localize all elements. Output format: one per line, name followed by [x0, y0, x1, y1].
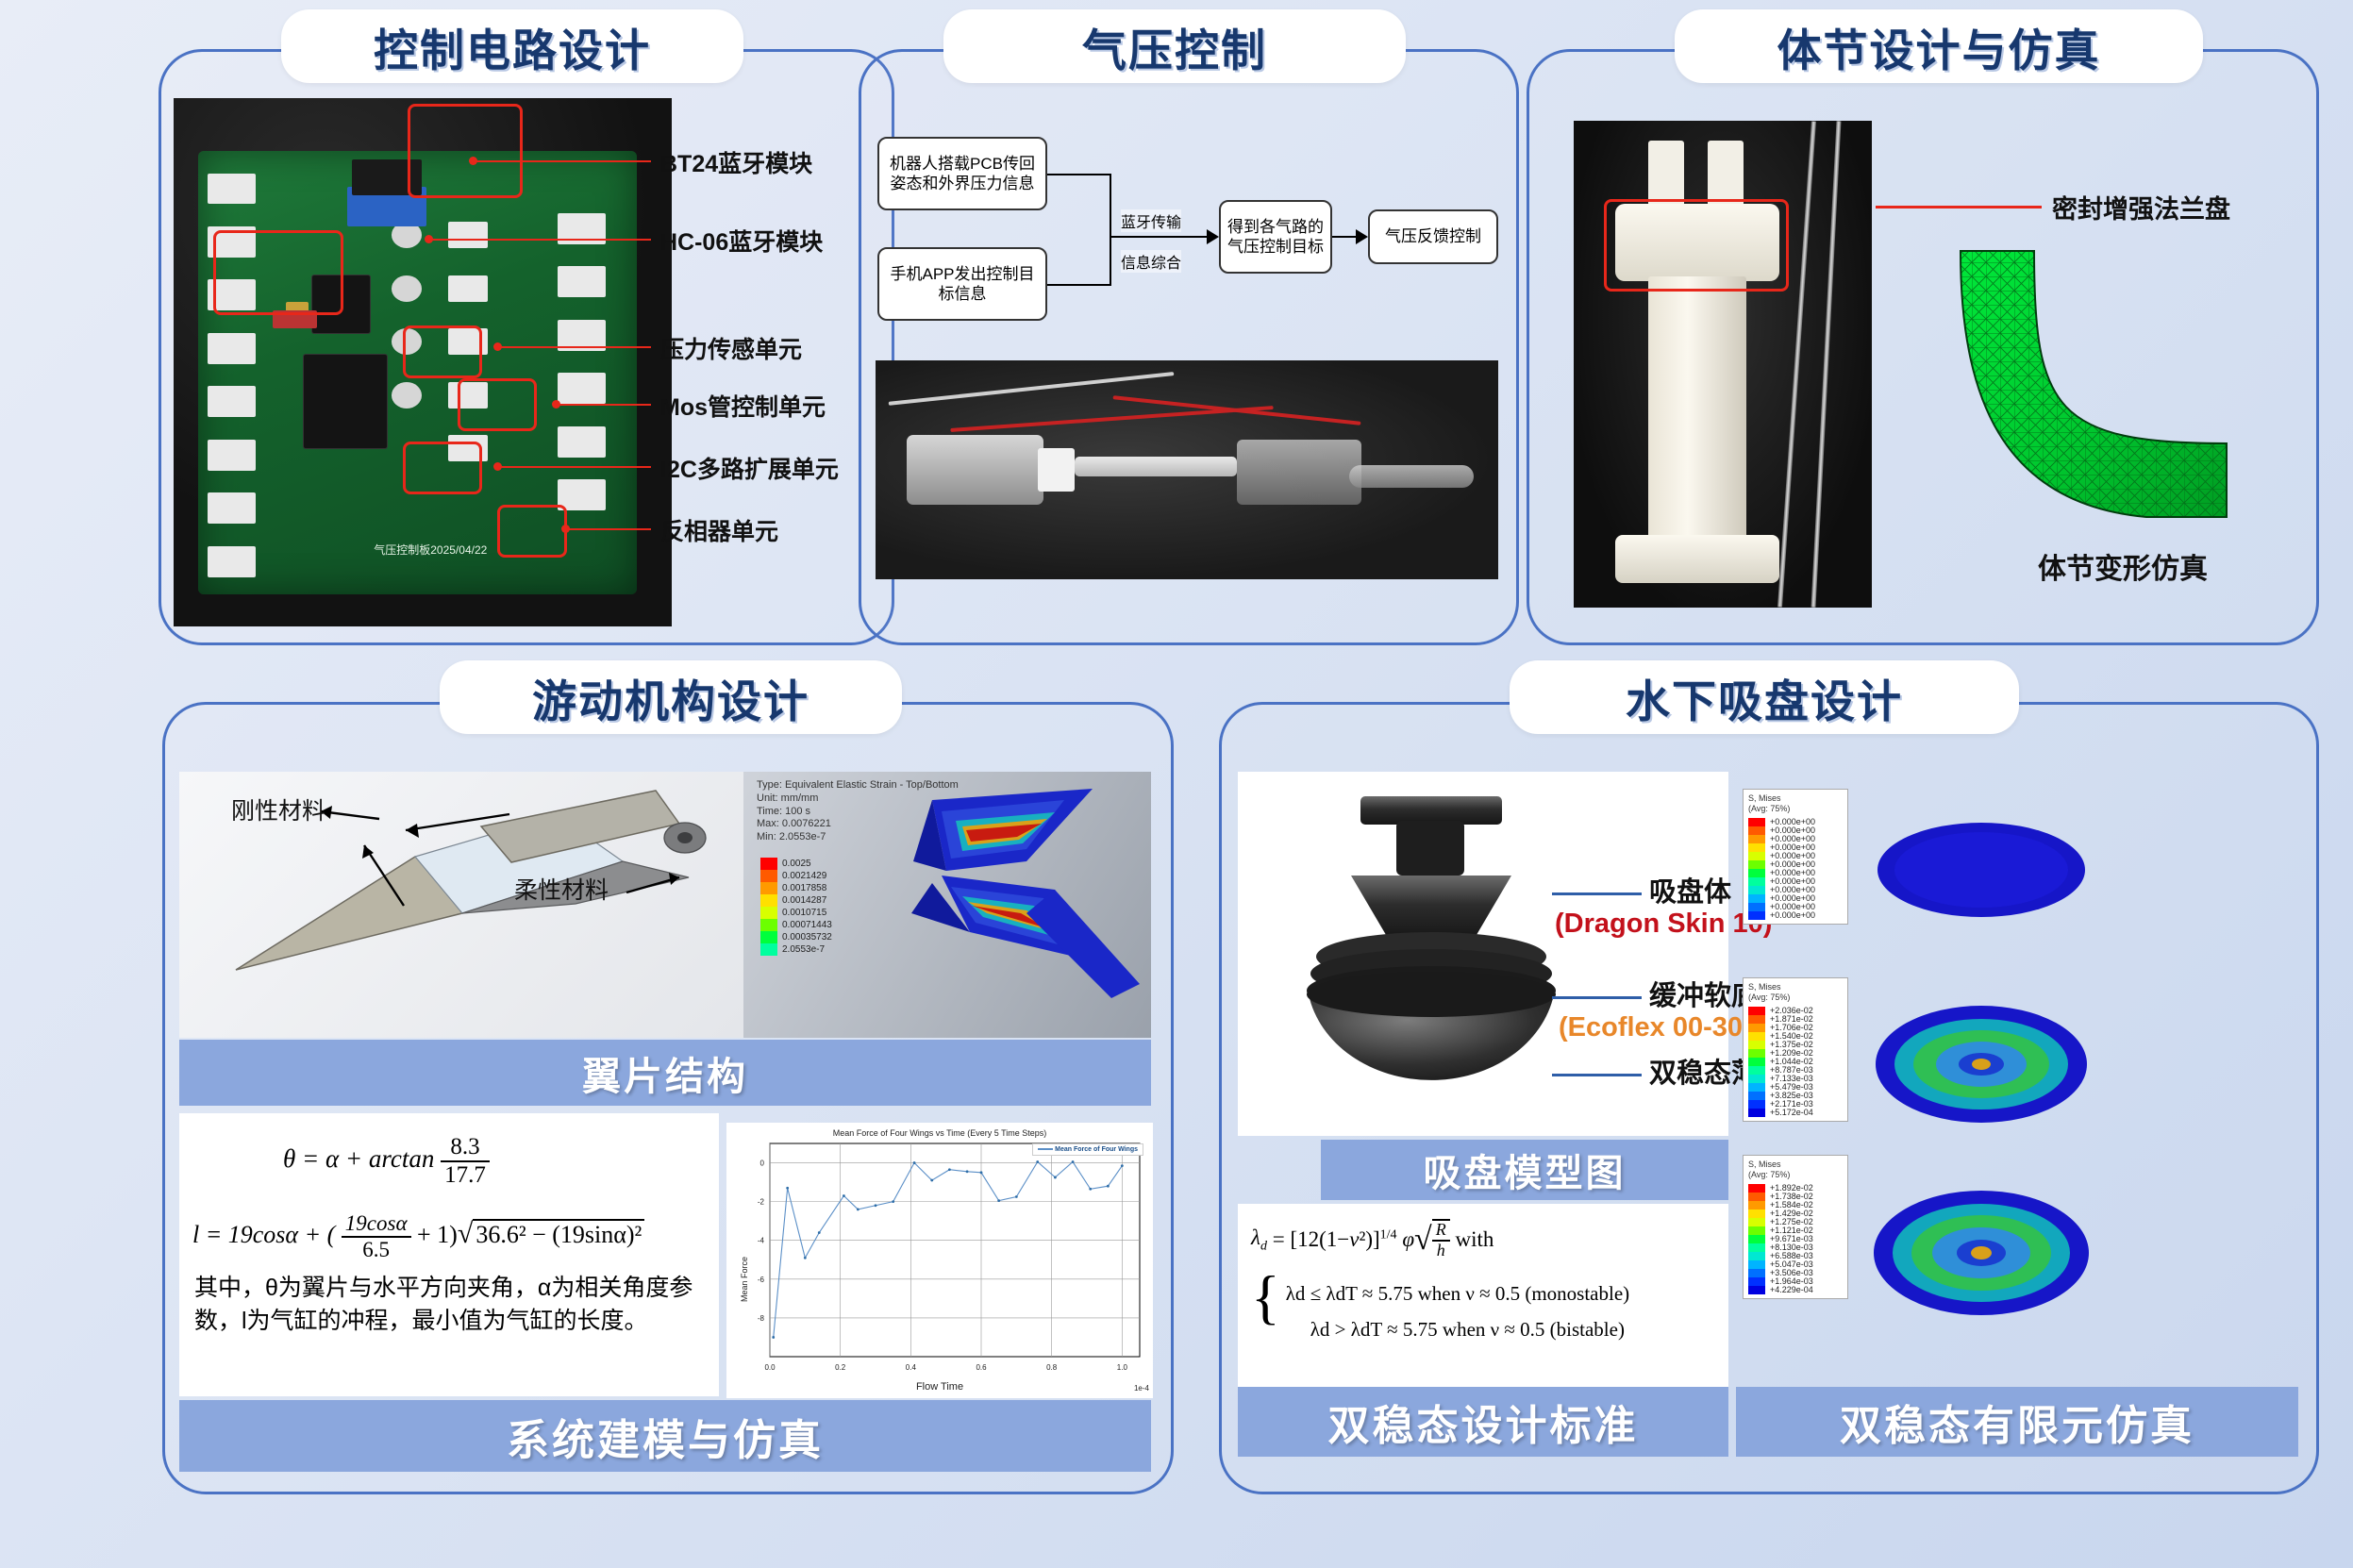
equation-l-mid: + 1): [417, 1221, 458, 1248]
wing-fea-image: Type: Equivalent Elastic Strain - Top/Bo…: [743, 772, 1151, 1038]
chart-xtick: 0.2: [835, 1363, 846, 1372]
fea-strain-legend: 0.00250.00214290.00178580.00142870.00107…: [760, 858, 832, 956]
chart-xtick: 0.4: [906, 1363, 917, 1372]
legend-swatch: [760, 870, 777, 882]
chart-point: [818, 1231, 821, 1234]
panel-swimming-mechanism-title-text: 游动机构设计: [532, 665, 809, 730]
callout-i2c: I2C多路扩展单元: [660, 451, 839, 485]
equation-theta-den: 17.7: [441, 1162, 490, 1189]
legend-value: 0.0017858: [782, 882, 832, 894]
callout-flange: 密封增强法兰盘: [2052, 189, 2230, 225]
fea-min: Min: 2.0553e-7: [757, 831, 959, 844]
equation-l-sqrt: 36.6² − (19sinα)²: [473, 1219, 644, 1248]
fem-result-3: [1870, 1187, 2093, 1319]
legend-swatch: [760, 919, 777, 931]
bistable-case-bistable: λd > λdT ≈ 5.75 when ν ≈ 0.5 (bistable): [1286, 1311, 1629, 1348]
chart-point: [843, 1194, 845, 1197]
highlight-inverter: [497, 505, 567, 558]
fem-legend-1: S, Mises (Avg: 75%) +0.000e+00+0.000e+00…: [1743, 789, 1848, 925]
fea-strain-header: Type: Equivalent Elastic Strain - Top/Bo…: [757, 779, 959, 844]
legend-swatch: [1748, 894, 1765, 903]
legend-swatch: [1748, 911, 1765, 920]
callout-pressure-sensor: 压力传感单元: [660, 331, 802, 365]
legend-swatch: [760, 894, 777, 907]
legend-swatch: [760, 882, 777, 894]
flow-edge-fusion: 信息综合: [1121, 250, 1181, 273]
legend-swatch: [1748, 1252, 1765, 1260]
legend-swatch: [1748, 1049, 1765, 1058]
chart-legend-entry: Mean Force of Four Wings: [1055, 1146, 1138, 1153]
legend-swatch: [1748, 1109, 1765, 1117]
chart-point: [913, 1161, 916, 1164]
chart-point: [786, 1187, 789, 1190]
legend-swatch: [1748, 1184, 1765, 1193]
label-rigid-material: 刚性材料: [231, 792, 325, 826]
fea-type: Type: Equivalent Elastic Strain - Top/Bo…: [757, 779, 959, 792]
legend-swatch: [1748, 860, 1765, 869]
legend-swatch: [760, 858, 777, 870]
highlight-hc06: [213, 230, 342, 315]
highlight-flange: [1604, 199, 1789, 292]
chart-point: [1054, 1176, 1057, 1179]
caption-sucker-model-text: 吸盘模型图: [1424, 1143, 1627, 1197]
chart-point: [892, 1200, 894, 1203]
panel-underwater-sucker-title: 水下吸盘设计: [1510, 660, 2019, 734]
legend-value: +5.172e-04: [1770, 1109, 1813, 1117]
segment-deformation-mesh: [1944, 234, 2255, 545]
legend-swatch: [1748, 1024, 1765, 1032]
chart-point: [948, 1168, 951, 1171]
highlight-i2c: [403, 442, 482, 494]
legend-swatch: [1748, 869, 1765, 877]
chart-point: [1015, 1195, 1018, 1198]
legend-value: 0.00071443: [782, 919, 832, 931]
flow-node-robot-pcb: 机器人搭载PCB传回姿态和外界压力信息: [877, 137, 1047, 210]
chart-x-exponent: 1e-4: [1134, 1384, 1149, 1393]
equation-theta-lhs: θ = α + arctan: [283, 1144, 434, 1173]
chart-xtick: 0.8: [1046, 1363, 1058, 1372]
legend-swatch: [1748, 1092, 1765, 1100]
flow-node-feedback: 气压反馈控制: [1368, 209, 1498, 264]
chart-title: Mean Force of Four Wings vs Time (Every …: [726, 1128, 1153, 1138]
legend-swatch: [1748, 1075, 1765, 1083]
panel-segment-design-title-text: 体节设计与仿真: [1777, 14, 2101, 79]
chart-ytick: -4: [758, 1237, 765, 1245]
segment-deformation-caption: 体节变形仿真: [1981, 545, 2264, 587]
legend-swatch: [1748, 1277, 1765, 1286]
fem-legend-3: S, Mises (Avg: 75%) +1.892e-02+1.738e-02…: [1743, 1155, 1848, 1299]
legend-swatch: [1748, 1226, 1765, 1235]
legend-swatch: [1748, 1193, 1765, 1201]
fem-legend-3-title: S, Mises: [1748, 1159, 1843, 1170]
equation-theta-num: 8.3: [441, 1134, 490, 1162]
chart-point: [857, 1208, 859, 1210]
chart-xtick: 0.6: [976, 1363, 987, 1372]
callout-sucker-soft-base-material: (Ecoflex 00-30): [1559, 1012, 1752, 1043]
legend-swatch: [1748, 843, 1765, 852]
chart-point: [1072, 1160, 1075, 1163]
caption-wing-structure: 翼片结构: [179, 1040, 1151, 1106]
chart-point: [997, 1199, 1000, 1202]
panel-swimming-mechanism-title: 游动机构设计: [440, 660, 902, 734]
legend-swatch: [1748, 1058, 1765, 1066]
wing-cad-image: 刚性材料 柔性材料: [179, 772, 743, 1038]
panel-segment-design-title: 体节设计与仿真: [1675, 9, 2203, 83]
legend-swatch: [1748, 1032, 1765, 1041]
legend-swatch: [1748, 1007, 1765, 1015]
legend-swatch: [1748, 1083, 1765, 1092]
chart-ylabel: Mean Force: [740, 1257, 749, 1302]
chart-point: [1107, 1185, 1110, 1188]
legend-swatch: [1748, 1209, 1765, 1218]
fea-unit: Unit: mm/mm: [757, 792, 959, 806]
legend-value: 0.00035732: [782, 931, 832, 943]
callout-mos: Mos管控制单元: [660, 389, 826, 423]
panel-control-circuit-title: 控制电路设计: [281, 9, 743, 83]
panel-underwater-sucker-title-text: 水下吸盘设计: [1626, 665, 1903, 730]
flow-edge-bluetooth: 蓝牙传输: [1121, 209, 1181, 232]
legend-value: 0.0010715: [782, 907, 832, 919]
equation-l-den: 6.5: [342, 1238, 411, 1262]
fem-legend-3-avg: (Avg: 75%): [1748, 1170, 1843, 1180]
callout-sucker-body: 吸盘体: [1649, 870, 1731, 909]
legend-value: 0.0025: [782, 858, 832, 870]
chart-point: [1089, 1188, 1092, 1191]
pcb-silk-text: 气压控制板2025/04/22: [374, 542, 487, 558]
callout-sucker-body-material: (Dragon Skin 10): [1555, 909, 1772, 940]
legend-swatch: [1748, 1100, 1765, 1109]
legend-swatch: [1748, 826, 1765, 835]
caption-system-modeling: 系统建模与仿真: [179, 1400, 1151, 1472]
equation-l-num: 19cosα: [342, 1211, 411, 1238]
legend-swatch: [1748, 903, 1765, 911]
legend-swatch: [1748, 852, 1765, 860]
equation-l-lhs: l = 19cosα + (: [192, 1221, 335, 1248]
legend-swatch: [1748, 1041, 1765, 1049]
legend-swatch: [1748, 1235, 1765, 1243]
bistable-equation: λd = [12(1−ν²)]1/4 φ √ R h with { λd ≤ λ…: [1238, 1204, 1728, 1391]
legend-swatch: [1748, 1015, 1765, 1024]
callout-bt24: BT24蓝牙模块: [660, 145, 812, 179]
highlight-bt24: [408, 104, 522, 199]
flow-node-target: 得到各气路的气压控制目标: [1219, 200, 1332, 274]
fem-result-2: [1870, 1002, 2093, 1126]
legend-swatch: [760, 931, 777, 943]
wing-equations: θ = α + arctan 8.3 17.7 l = 19cosα + ( 1…: [179, 1113, 719, 1396]
chart-point: [875, 1204, 877, 1207]
legend-swatch: [1748, 1066, 1765, 1075]
highlight-mos: [458, 378, 537, 431]
fem-legend-1-avg: (Avg: 75%): [1748, 804, 1843, 814]
caption-bistable-criteria-text: 双稳态设计标准: [1328, 1392, 1639, 1452]
legend-swatch: [1748, 886, 1765, 894]
legend-swatch: [1748, 835, 1765, 843]
chart-xtick: 0.0: [764, 1363, 776, 1372]
chart-ytick: 0: [760, 1159, 765, 1168]
chart-point: [1036, 1160, 1039, 1163]
callout-inverter: 反相器单元: [660, 513, 778, 547]
chart-ytick: -6: [758, 1276, 765, 1284]
legend-swatch: [1748, 1269, 1765, 1277]
panel-pressure-control-title: 气压控制: [943, 9, 1406, 83]
legend-swatch: [760, 943, 777, 956]
caption-system-modeling-text: 系统建模与仿真: [507, 1406, 824, 1467]
chart-xlabel: Flow Time: [726, 1381, 1153, 1393]
fea-max: Max: 0.0076221: [757, 818, 959, 831]
caption-bistable-criteria: 双稳态设计标准: [1238, 1387, 1728, 1457]
legend-value: +0.000e+00: [1770, 911, 1815, 920]
chart-point: [772, 1336, 775, 1339]
fem-legend-2-avg: (Avg: 75%): [1748, 993, 1843, 1003]
equation-note: 其中，θ为翼片与水平方向夹角，α为相关角度参数，l为气缸的冲程，最小值为气缸的长…: [194, 1272, 711, 1337]
caption-bistable-fem-text: 双稳态有限元仿真: [1840, 1392, 2194, 1452]
callout-hc06: HC-06蓝牙模块: [660, 224, 823, 258]
caption-sucker-model: 吸盘模型图: [1321, 1140, 1728, 1200]
legend-value: 0.0021429: [782, 870, 832, 882]
legend-value: 2.0553e-7: [782, 943, 832, 956]
flow-node-app: 手机APP发出控制目标信息: [877, 247, 1047, 321]
panel-control-circuit-title-text: 控制电路设计: [374, 14, 651, 79]
legend-swatch: [1748, 877, 1765, 886]
pcb-photo: 气压控制板2025/04/22: [174, 98, 672, 626]
fem-legend-1-title: S, Mises: [1748, 793, 1843, 804]
label-flexible-material: 柔性材料: [514, 872, 609, 906]
chart-point: [980, 1171, 983, 1174]
chart-legend: Mean Force of Four Wings: [1032, 1143, 1143, 1156]
bistable-case-monostable: λd ≤ λdT ≈ 5.75 when ν ≈ 0.5 (monostable…: [1286, 1276, 1629, 1312]
chart-point: [966, 1170, 969, 1173]
chart-point: [930, 1179, 933, 1182]
legend-value: 0.0014287: [782, 894, 832, 907]
chart-point: [1121, 1164, 1124, 1167]
fem-legend-2: S, Mises (Avg: 75%) +2.036e-02+1.871e-02…: [1743, 977, 1848, 1122]
legend-swatch: [1748, 1243, 1765, 1252]
legend-value: +4.229e-04: [1770, 1286, 1813, 1294]
chart-xtick: 1.0: [1117, 1363, 1128, 1372]
legend-swatch: [1748, 1286, 1765, 1294]
chart-point: [804, 1257, 807, 1259]
mean-force-chart: Mean Force of Four Wings vs Time (Every …: [726, 1123, 1153, 1398]
pump-photo: [876, 360, 1498, 579]
chart-ytick: -8: [758, 1314, 765, 1323]
panel-pressure-control-title-text: 气压控制: [1082, 14, 1267, 79]
fea-time: Time: 100 s: [757, 806, 959, 819]
fem-legend-2-title: S, Mises: [1748, 982, 1843, 993]
caption-wing-structure-text: 翼片结构: [582, 1044, 748, 1101]
fem-result-1: [1870, 817, 2093, 923]
legend-swatch: [1748, 1260, 1765, 1269]
highlight-pressure: [403, 325, 482, 378]
caption-bistable-fem: 双稳态有限元仿真: [1736, 1387, 2298, 1457]
legend-swatch: [1748, 818, 1765, 826]
legend-swatch: [1748, 1218, 1765, 1226]
legend-swatch: [760, 907, 777, 919]
segment-photo: [1574, 121, 1872, 608]
chart-ytick: -2: [758, 1198, 765, 1207]
legend-swatch: [1748, 1201, 1765, 1209]
